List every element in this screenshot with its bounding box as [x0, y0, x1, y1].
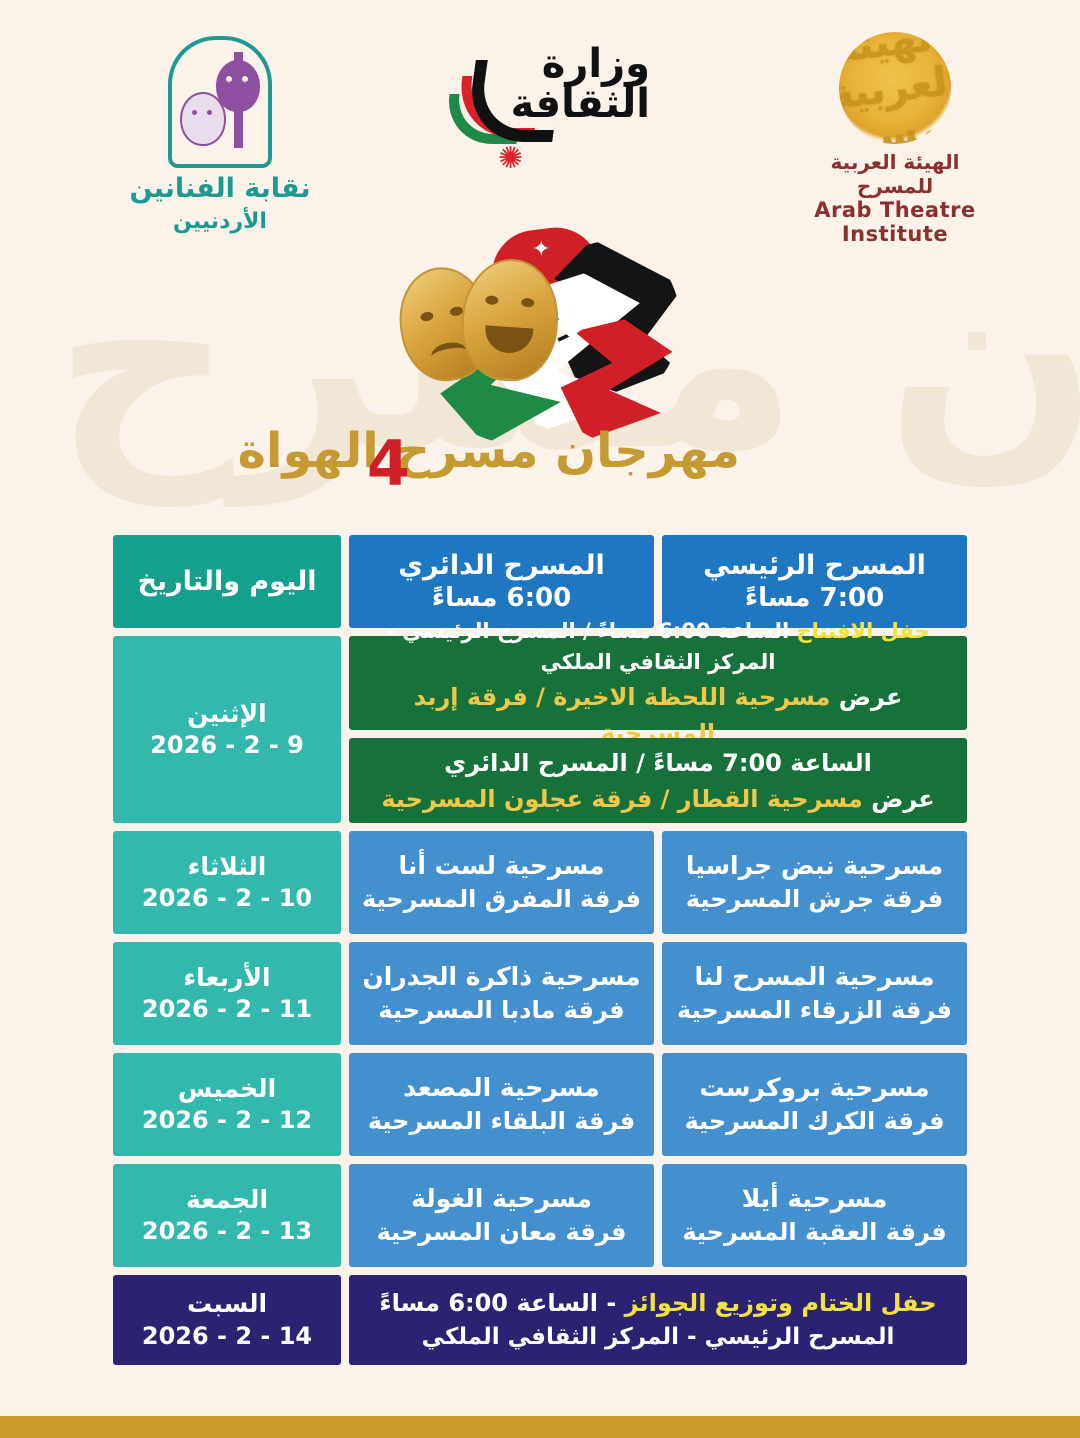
friday-day: الجمعة: [186, 1184, 268, 1217]
saturday-closing-line2: المسرح الرئيسي - المركز الثقافي الملكي: [422, 1321, 895, 1354]
saturday-closing-time: - الساعة 6:00 مساءً: [379, 1289, 624, 1317]
monday-opening-highlight: حفل الافتتاح: [797, 619, 930, 643]
friday-main-show-title: مسرحية أيلا: [742, 1182, 888, 1216]
monday-events: حفل الافتتاح الساعة 6:00 مساءً / المسرح …: [349, 636, 967, 823]
thursday-main-stage-cell: مسرحية بروكرست فرقة الكرك المسرحية: [662, 1053, 967, 1156]
tuesday-day: الثلاثاء: [188, 851, 267, 884]
table-row-wednesday: مسرحية المسرح لنا فرقة الزرقاء المسرحية …: [0, 942, 1080, 1045]
wednesday-date-cell: الأربعاء 11 - 2 - 2026: [113, 942, 341, 1045]
tuesday-main-show-title: مسرحية نبض جراسيا: [686, 849, 943, 883]
monday-opening-line1: حفل الافتتاح الساعة 6:00 مساءً / المسرح …: [359, 616, 957, 679]
ati-name-arabic: الهيئة العربية للمسرح: [790, 150, 1000, 198]
monday-opening-show: مسرحية اللحظة الاخيرة / فرقة إربد المسرح…: [414, 683, 831, 747]
ministry-name-line1: وزارة: [511, 44, 650, 84]
wednesday-main-troupe: فرقة الزرقاء المسرحية: [677, 994, 952, 1026]
tuesday-main-stage-cell: مسرحية نبض جراسيا فرقة جرش المسرحية: [662, 831, 967, 934]
friday-circular-show-title: مسرحية الغولة: [411, 1182, 592, 1216]
table-row-friday: مسرحية أيلا فرقة العقبة المسرحية مسرحية …: [0, 1164, 1080, 1267]
logo-ministry-of-culture: وزارة الثقافة ✺: [440, 40, 650, 150]
schedule-table: المسرح الرئيسي 7:00 مساءً المسرح الدائري…: [0, 535, 1080, 1373]
monday-opening-prefix: عرض: [830, 683, 902, 711]
friday-circular-troupe: فرقة معان المسرحية: [377, 1216, 627, 1248]
thursday-day: الخميس: [178, 1073, 276, 1106]
saturday-closing-line1: حفل الختام وتوزيع الجوائز - الساعة 6:00 …: [379, 1286, 936, 1321]
festival-logo: ✦ مهرجان مسرح الهواة 4: [340, 215, 740, 515]
saturday-day: السبت: [187, 1288, 267, 1321]
flag-star-icon: ✦: [532, 239, 550, 261]
monday-second-prefix: عرض: [863, 785, 935, 813]
tuesday-circular-stage-cell: مسرحية لست أنا فرقة المفرق المسرحية: [349, 831, 654, 934]
monday-opening-block: حفل الافتتاح الساعة 6:00 مساءً / المسرح …: [349, 636, 967, 730]
ati-calligraphy-text: الهيئة العربية للمسرح: [839, 32, 951, 144]
syndicate-name-line2: الأردنيين: [120, 210, 320, 234]
tuesday-main-troupe: فرقة جرش المسرحية: [686, 883, 943, 915]
jordan-flag-ribbons-icon: ✦: [340, 215, 740, 445]
table-row-tuesday: مسرحية نبض جراسيا فرقة جرش المسرحية مسرح…: [0, 831, 1080, 934]
ministry-wordmark: وزارة الثقافة: [511, 44, 650, 124]
saturday-closing-highlight: حفل الختام وتوزيع الجوائز: [625, 1289, 937, 1317]
tuesday-date: 10 - 2 - 2026: [142, 883, 312, 914]
header-circular-stage-name: المسرح الدائري: [398, 549, 605, 582]
header-circular-stage-time: 6:00 مساءً: [432, 582, 571, 614]
thursday-circular-show-title: مسرحية المصعد: [403, 1071, 599, 1105]
table-row-saturday: حفل الختام وتوزيع الجوائز - الساعة 6:00 …: [0, 1275, 1080, 1365]
festival-poster: مهرجان مسرح الهواة نقابة الفنانين الأردن…: [0, 0, 1080, 1438]
saturday-closing-cell: حفل الختام وتوزيع الجوائز - الساعة 6:00 …: [349, 1275, 967, 1365]
header-main-stage-name: المسرح الرئيسي: [703, 549, 926, 582]
bottom-gold-bar: [0, 1416, 1080, 1438]
saturday-date: 14 - 2 - 2026: [142, 1321, 312, 1352]
friday-main-stage-cell: مسرحية أيلا فرقة العقبة المسرحية: [662, 1164, 967, 1267]
sponsor-logos-row: نقابة الفنانين الأردنيين وزارة الثقافة ✺: [0, 0, 1080, 225]
logo-arab-theatre-institute: الهيئة العربية للمسرح الهيئة العربية للم…: [790, 32, 1000, 246]
wednesday-circular-troupe: فرقة مادبا المسرحية: [378, 994, 624, 1026]
friday-circular-stage-cell: مسرحية الغولة فرقة معان المسرحية: [349, 1164, 654, 1267]
tuesday-circular-troupe: فرقة المفرق المسرحية: [362, 883, 641, 915]
header-main-stage-time: 7:00 مساءً: [745, 582, 884, 614]
thursday-date: 12 - 2 - 2026: [142, 1105, 312, 1136]
header-day-and-date: اليوم والتاريخ: [113, 535, 341, 628]
ministry-mark: وزارة الثقافة ✺: [440, 40, 650, 150]
wednesday-main-show-title: مسرحية المسرح لنا: [695, 960, 935, 994]
monday-second-line2: عرض مسرحية القطار / فرقة عجلون المسرحية: [381, 781, 934, 817]
ati-name-english: Arab Theatre Institute: [790, 198, 1000, 246]
friday-date: 13 - 2 - 2026: [142, 1216, 312, 1247]
syndicate-arch-icon: [168, 36, 272, 168]
header-circular-stage: المسرح الدائري 6:00 مساءً: [349, 535, 654, 628]
thursday-date-cell: الخميس 12 - 2 - 2026: [113, 1053, 341, 1156]
header-day-and-date-label: اليوم والتاريخ: [138, 565, 317, 598]
monday-day: الإثنين: [187, 698, 266, 731]
monday-second-block: الساعة 7:00 مساءً / المسرح الدائري عرض م…: [349, 738, 967, 823]
table-header-row: المسرح الرئيسي 7:00 مساءً المسرح الدائري…: [0, 535, 1080, 628]
wednesday-main-stage-cell: مسرحية المسرح لنا فرقة الزرقاء المسرحية: [662, 942, 967, 1045]
monday-second-show: مسرحية القطار / فرقة عجلون المسرحية: [381, 785, 862, 813]
saturday-date-cell: السبت 14 - 2 - 2026: [113, 1275, 341, 1365]
friday-date-cell: الجمعة 13 - 2 - 2026: [113, 1164, 341, 1267]
jordan-star-icon: ✺: [498, 144, 523, 174]
monday-opening-detail: الساعة 6:00 مساءً / المسرح الرئيسي - الم…: [386, 619, 796, 675]
table-row-thursday: مسرحية بروكرست فرقة الكرك المسرحية مسرحي…: [0, 1053, 1080, 1156]
table-row-monday: حفل الافتتاح الساعة 6:00 مساءً / المسرح …: [0, 636, 1080, 823]
syndicate-name-line1: نقابة الفنانين: [120, 174, 320, 204]
syndicate-sad-mask-icon: [180, 92, 226, 146]
header-main-stage: المسرح الرئيسي 7:00 مساءً: [662, 535, 967, 628]
wednesday-day: الأربعاء: [183, 962, 270, 995]
ati-calligraphy-seal-icon: الهيئة العربية للمسرح: [839, 32, 951, 144]
monday-date-cell: الإثنين 9 - 2 - 2026: [113, 636, 341, 823]
thursday-main-show-title: مسرحية بروكرست: [699, 1071, 929, 1105]
wednesday-date: 11 - 2 - 2026: [142, 994, 312, 1025]
tuesday-circular-show-title: مسرحية لست أنا: [399, 849, 605, 883]
ministry-name-line2: الثقافة: [511, 84, 650, 124]
thursday-circular-troupe: فرقة البلقاء المسرحية: [368, 1105, 635, 1137]
festival-edition-number: 4: [367, 433, 410, 495]
wednesday-circular-stage-cell: مسرحية ذاكرة الجدران فرقة مادبا المسرحية: [349, 942, 654, 1045]
logo-jordanian-artists-syndicate: نقابة الفنانين الأردنيين: [120, 36, 320, 234]
tuesday-date-cell: الثلاثاء 10 - 2 - 2026: [113, 831, 341, 934]
friday-main-troupe: فرقة العقبة المسرحية: [682, 1216, 946, 1248]
thursday-circular-stage-cell: مسرحية المصعد فرقة البلقاء المسرحية: [349, 1053, 654, 1156]
monday-date: 9 - 2 - 2026: [150, 730, 304, 761]
monday-second-line1: الساعة 7:00 مساءً / المسرح الدائري: [444, 745, 872, 781]
wednesday-circular-show-title: مسرحية ذاكرة الجدران: [362, 960, 640, 994]
thursday-main-troupe: فرقة الكرك المسرحية: [684, 1105, 944, 1137]
